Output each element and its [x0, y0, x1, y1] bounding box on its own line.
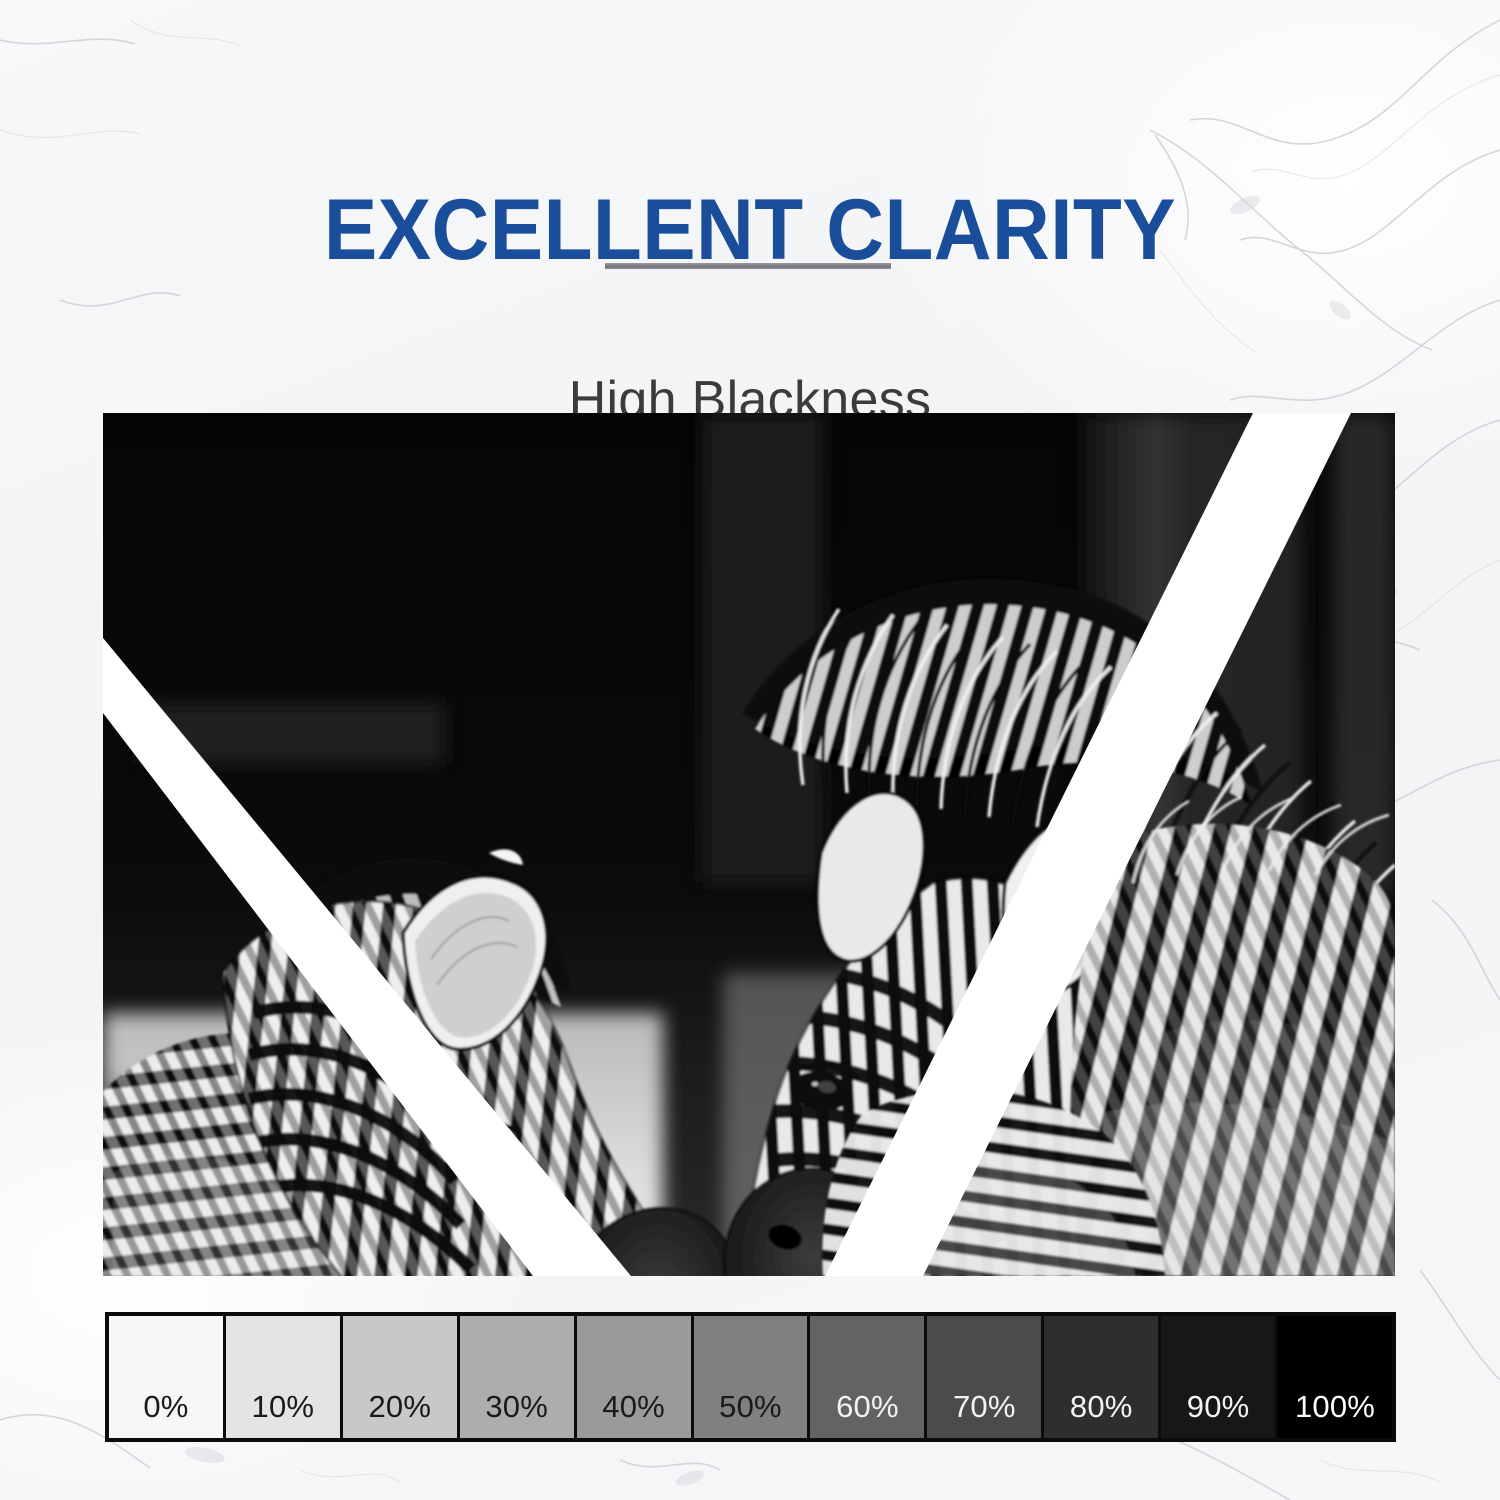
grayscale-swatch: 30%: [460, 1316, 574, 1438]
grayscale-swatch: 0%: [109, 1316, 223, 1438]
grayscale-swatch-label: 100%: [1295, 1390, 1375, 1438]
grayscale-swatch: 60%: [810, 1316, 924, 1438]
grayscale-swatch: 70%: [927, 1316, 1041, 1438]
grayscale-swatch-label: 20%: [368, 1390, 431, 1438]
grayscale-swatch: 80%: [1044, 1316, 1158, 1438]
grayscale-swatch: 100%: [1278, 1316, 1392, 1438]
grayscale-swatch-label: 40%: [602, 1390, 665, 1438]
grayscale-swatch-label: 60%: [836, 1390, 899, 1438]
page-title: EXCELLENT CLARITY: [53, 184, 1448, 276]
grayscale-swatch: 50%: [694, 1316, 808, 1438]
grayscale-swatch-label: 10%: [252, 1390, 315, 1438]
grayscale-swatch: 90%: [1161, 1316, 1275, 1438]
grayscale-swatch-label: 80%: [1070, 1390, 1133, 1438]
zebra-photo-graphic: [103, 413, 1395, 1276]
grayscale-swatch-label: 90%: [1187, 1390, 1250, 1438]
grayscale-swatch-label: 50%: [719, 1390, 782, 1438]
grayscale-swatch: 20%: [343, 1316, 457, 1438]
grayscale-swatch-label: 30%: [485, 1390, 548, 1438]
grayscale-swatch: 40%: [577, 1316, 691, 1438]
grayscale-swatch: 10%: [226, 1316, 340, 1438]
grayscale-swatch-label: 0%: [143, 1390, 188, 1438]
title-divider: [605, 263, 891, 269]
grayscale-density-strip: 0%10%20%30%40%50%60%70%80%90%100%: [105, 1312, 1396, 1442]
grayscale-swatch-label: 70%: [953, 1390, 1016, 1438]
zebra-photo: [103, 413, 1395, 1276]
